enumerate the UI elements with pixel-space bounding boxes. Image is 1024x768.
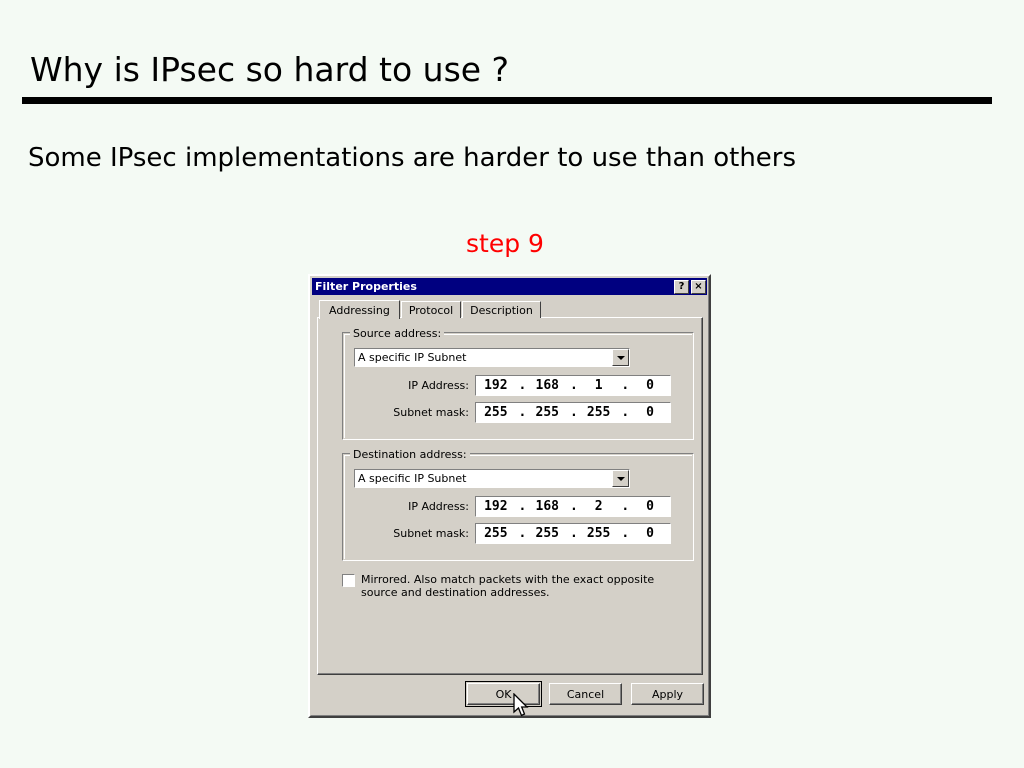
page-title: Why is IPsec so hard to use ? — [30, 50, 509, 89]
destination-address-type-value: A specific IP Subnet — [355, 472, 612, 485]
ip-separator: . — [621, 405, 627, 420]
source-ip-octet-1: 192 — [479, 378, 513, 393]
destination-ip-input[interactable]: 192 . 168 . 2 . 0 — [475, 496, 671, 517]
mirrored-checkbox[interactable] — [342, 574, 355, 587]
source-address-group-label: Source address: — [350, 327, 444, 340]
source-mask-octet-2: 255 — [530, 405, 564, 420]
mirrored-checkbox-row[interactable]: Mirrored. Also match packets with the ex… — [342, 573, 692, 599]
ip-separator: . — [621, 378, 627, 393]
destination-address-group-label: Destination address: — [350, 448, 470, 461]
destination-mask-octet-3: 255 — [582, 526, 616, 541]
source-mask-input[interactable]: 255 . 255 . 255 . 0 — [475, 402, 671, 423]
source-address-type-combo[interactable]: A specific IP Subnet — [354, 348, 630, 367]
chevron-down-icon[interactable] — [612, 349, 629, 366]
slide: Why is IPsec so hard to use ? Some IPsec… — [0, 0, 1024, 768]
ip-separator: . — [570, 526, 576, 541]
ip-separator: . — [519, 526, 525, 541]
ip-separator: . — [621, 526, 627, 541]
ip-separator: . — [621, 499, 627, 514]
ip-separator: . — [519, 499, 525, 514]
source-mask-octet-1: 255 — [479, 405, 513, 420]
tab-addressing[interactable]: Addressing — [319, 300, 400, 319]
titlebar-buttons: ? × — [674, 280, 707, 294]
destination-ip-octet-4: 0 — [633, 499, 667, 514]
ok-button[interactable]: OK — [467, 683, 540, 705]
mirrored-checkbox-label: Mirrored. Also match packets with the ex… — [361, 573, 677, 599]
destination-ip-label: IP Address: — [343, 500, 475, 513]
chevron-down-icon[interactable] — [612, 470, 629, 487]
destination-address-group: Destination address: A specific IP Subne… — [342, 453, 694, 561]
slide-subtitle: Some IPsec implementations are harder to… — [28, 143, 796, 173]
destination-mask-label: Subnet mask: — [343, 527, 475, 540]
dialog-titlebar[interactable]: Filter Properties ? × — [312, 278, 707, 295]
tab-panel-addressing: Source address: A specific IP Subnet IP … — [317, 317, 703, 675]
apply-button[interactable]: Apply — [631, 683, 704, 705]
filter-properties-dialog: Filter Properties ? × Addressing Protoco… — [308, 274, 711, 718]
destination-mask-octet-2: 255 — [530, 526, 564, 541]
destination-ip-octet-3: 2 — [582, 499, 616, 514]
destination-ip-octet-1: 192 — [479, 499, 513, 514]
cancel-button[interactable]: Cancel — [549, 683, 622, 705]
source-mask-row: Subnet mask: 255 . 255 . 255 . 0 — [343, 402, 671, 423]
destination-mask-row: Subnet mask: 255 . 255 . 255 . 0 — [343, 523, 671, 544]
tabstrip: Addressing Protocol Description — [319, 300, 542, 318]
ip-separator: . — [570, 499, 576, 514]
source-ip-octet-3: 1 — [582, 378, 616, 393]
close-icon[interactable]: × — [691, 280, 706, 294]
ip-separator: . — [519, 405, 525, 420]
source-mask-octet-3: 255 — [582, 405, 616, 420]
destination-ip-octet-2: 168 — [530, 499, 564, 514]
dialog-button-row: OK Cancel Apply — [310, 682, 709, 706]
source-ip-octet-2: 168 — [530, 378, 564, 393]
source-ip-row: IP Address: 192 . 168 . 1 . 0 — [343, 375, 671, 396]
source-mask-label: Subnet mask: — [343, 406, 475, 419]
help-icon[interactable]: ? — [674, 280, 689, 294]
title-divider — [22, 97, 992, 104]
step-label: step 9 — [466, 229, 544, 258]
destination-mask-octet-1: 255 — [479, 526, 513, 541]
destination-mask-octet-4: 0 — [633, 526, 667, 541]
source-ip-octet-4: 0 — [633, 378, 667, 393]
destination-mask-input[interactable]: 255 . 255 . 255 . 0 — [475, 523, 671, 544]
ip-separator: . — [519, 378, 525, 393]
source-ip-input[interactable]: 192 . 168 . 1 . 0 — [475, 375, 671, 396]
destination-address-type-combo[interactable]: A specific IP Subnet — [354, 469, 630, 488]
source-mask-octet-4: 0 — [633, 405, 667, 420]
dialog-title: Filter Properties — [315, 281, 417, 292]
ip-separator: . — [570, 405, 576, 420]
source-address-type-value: A specific IP Subnet — [355, 351, 612, 364]
ip-separator: . — [570, 378, 576, 393]
destination-ip-row: IP Address: 192 . 168 . 2 . 0 — [343, 496, 671, 517]
source-address-group: Source address: A specific IP Subnet IP … — [342, 332, 694, 440]
tab-description[interactable]: Description — [462, 301, 541, 318]
tab-protocol[interactable]: Protocol — [401, 301, 461, 318]
source-ip-label: IP Address: — [343, 379, 475, 392]
